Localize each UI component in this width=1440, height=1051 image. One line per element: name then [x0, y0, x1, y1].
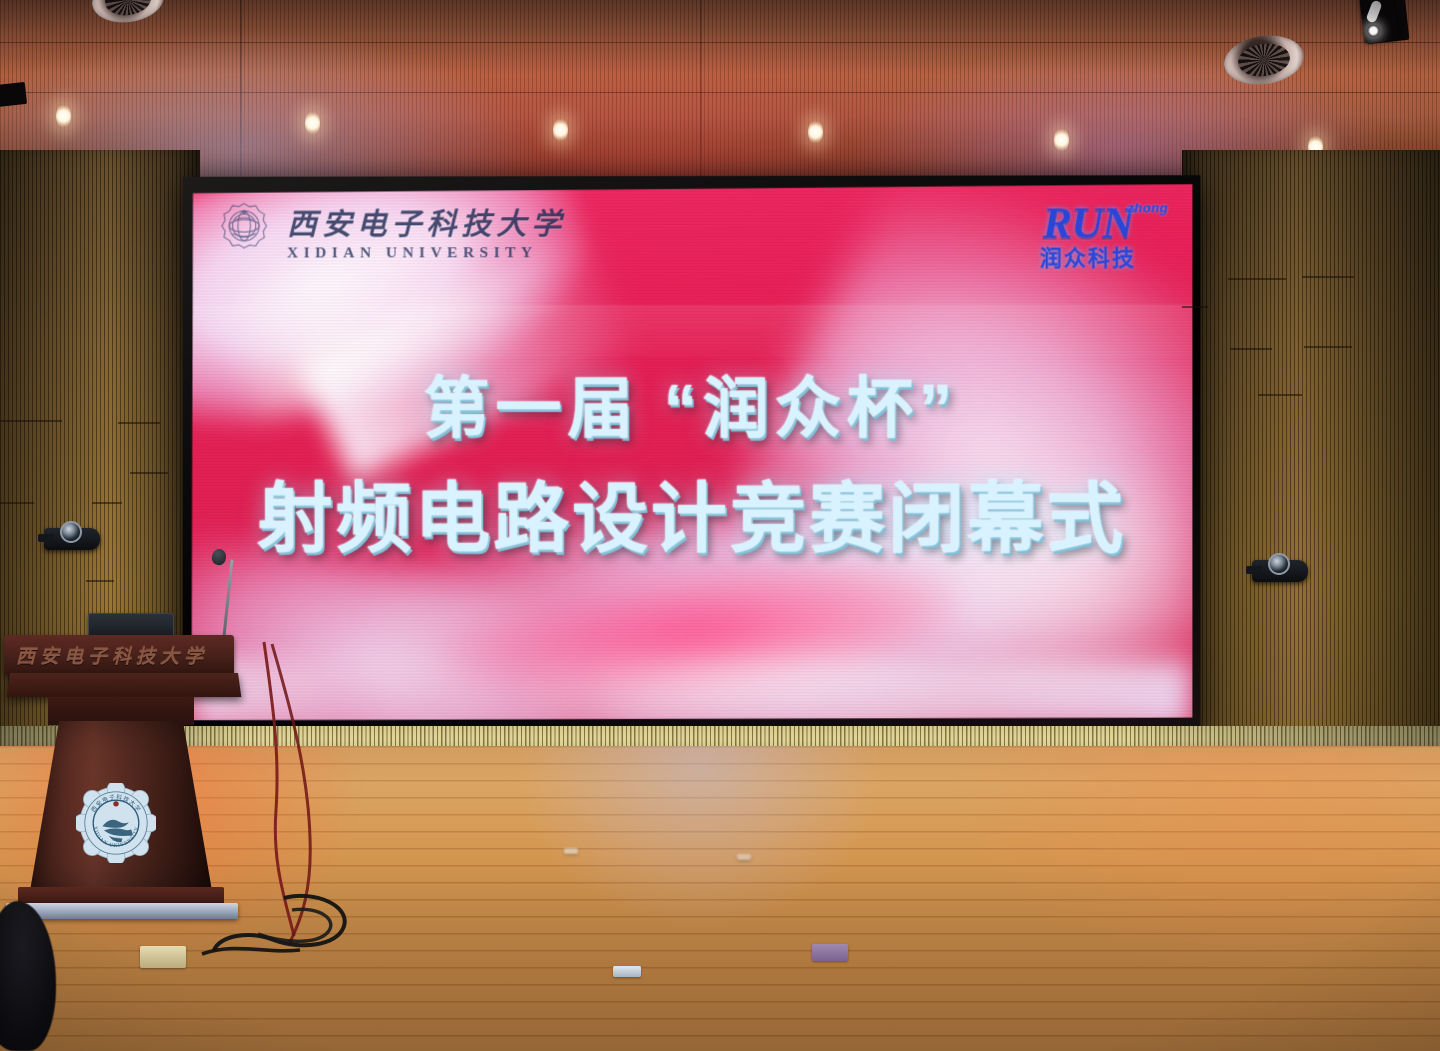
downlight-icon [305, 111, 320, 135]
svg-text:1931: 1931 [112, 837, 120, 842]
downlight-icon [1054, 128, 1069, 152]
floor-scuff [737, 854, 751, 860]
podium-plinth [6, 903, 238, 919]
floor-socket-icon [613, 966, 641, 977]
xidian-seal-icon [213, 200, 275, 262]
floor-socket-icon [812, 944, 848, 961]
event-title: 第一届 “润众杯” 射频电路设计竞赛闭幕式 [191, 355, 1192, 568]
podium-slab [7, 673, 242, 697]
event-title-line2: 射频电路设计竞赛闭幕式 [191, 457, 1192, 567]
podium[interactable]: 西安电子科技大学 [4, 635, 262, 955]
floor-scuff [564, 848, 578, 854]
auditorium-scene: 西安电子科技大学 XIDIAN UNIVERSITY zhong RUN 润众科… [0, 0, 1440, 1051]
sponsor-logo: zhong RUN 润众科技 [1004, 198, 1173, 272]
podium-neck [48, 697, 194, 725]
tracklight-icon [1359, 0, 1398, 44]
sponsor-name-cn: 润众科技 [1004, 240, 1173, 272]
downlight-icon [553, 118, 568, 142]
ceiling-recess-left [0, 82, 27, 108]
downlight-icon [56, 104, 71, 128]
podium-top: 西安电子科技大学 [4, 635, 234, 675]
xidian-university-emblem: 西安电子科技大学 XIDIAN UNIVERSITY 1931 [76, 783, 156, 863]
camera-icon [1252, 560, 1308, 582]
led-screen-bezel: 西安电子科技大学 XIDIAN UNIVERSITY zhong RUN 润众科… [183, 175, 1201, 730]
downlight-icon [808, 120, 823, 144]
event-title-line1: 第一届 “润众杯” [191, 355, 1192, 451]
university-lockup: 西安电子科技大学 XIDIAN UNIVERSITY [213, 199, 566, 262]
camera-icon [44, 528, 100, 550]
sponsor-superscript: zhong [1127, 200, 1168, 215]
led-screen[interactable]: 西安电子科技大学 XIDIAN UNIVERSITY zhong RUN 润众科… [191, 184, 1192, 722]
university-name-cn: 西安电子科技大学 [287, 199, 566, 243]
university-name-en: XIDIAN UNIVERSITY [287, 244, 566, 262]
podium-name-cn: 西安电子科技大学 [16, 642, 208, 669]
